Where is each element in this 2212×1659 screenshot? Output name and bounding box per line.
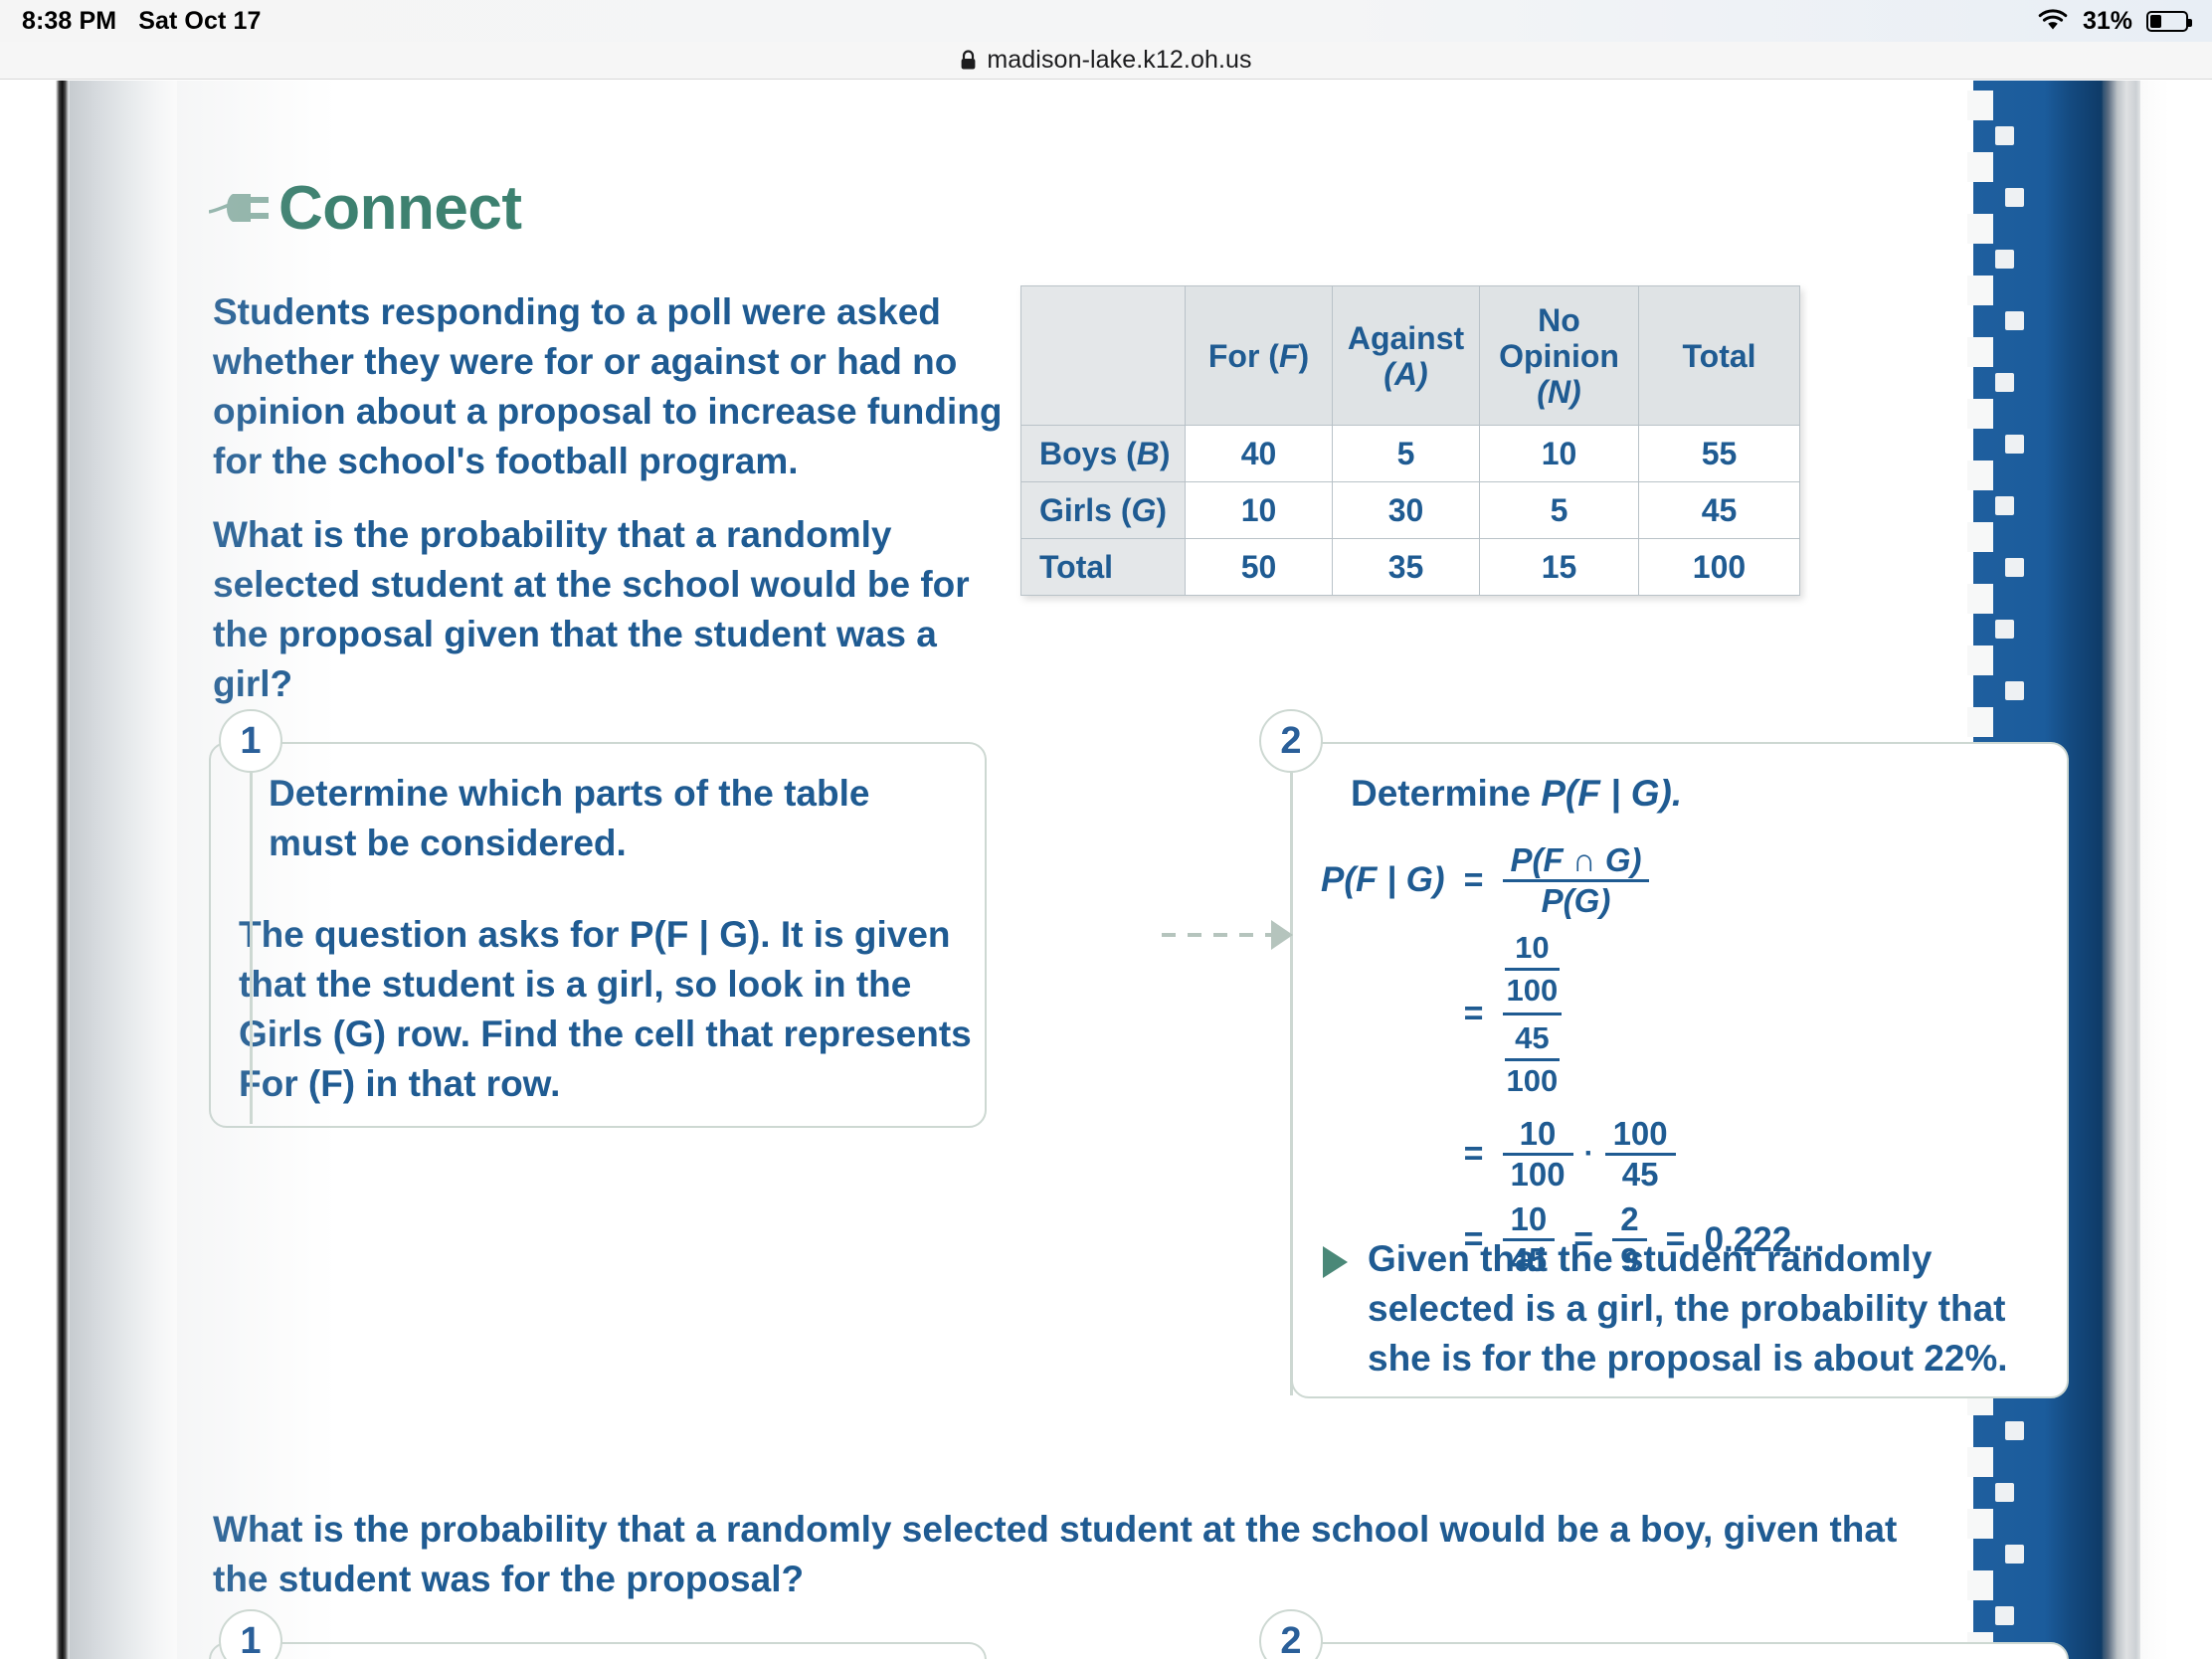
binding-notch — [1967, 707, 1993, 737]
binding-hole — [1995, 1483, 2014, 1502]
step2-heading-prefix: Determine — [1351, 773, 1541, 814]
step1-instruction: Determine which parts of the table must … — [269, 769, 965, 868]
binding-notch — [1967, 1570, 1993, 1600]
clock-time: 8:38 PM — [22, 7, 116, 36]
formula-numerator: P(F ∩ G) — [1503, 841, 1650, 879]
complex-fraction-numerator: 10 100 — [1503, 925, 1563, 1013]
result-a-num: 10 — [1503, 1200, 1556, 1238]
math-equals-2: = — [1445, 995, 1503, 1033]
binding-notch — [1967, 399, 1993, 429]
mult-b-num: 100 — [1605, 1115, 1676, 1153]
math-lhs: P(F | G) — [1321, 860, 1445, 900]
row-header: Total — [1021, 539, 1186, 596]
step-box-3 — [209, 1642, 987, 1659]
table-cell: 50 — [1186, 539, 1333, 596]
math-row-formula: P(F | G) = P(F ∩ G) P(G) — [1321, 841, 1826, 919]
binding-hole — [2005, 681, 2024, 700]
row-header: Girls (G) — [1021, 482, 1186, 539]
url-text: madison-lake.k12.oh.us — [987, 46, 1251, 75]
plug-icon — [209, 182, 271, 236]
step-stem-1 — [250, 771, 253, 1124]
math-row-multiplication: P(F | G) = 10 100 · 100 45 — [1321, 1115, 1826, 1193]
table-cell: 10 — [1186, 482, 1333, 539]
binding-notch — [1967, 461, 1993, 490]
table-cell: 40 — [1186, 426, 1333, 482]
triangle-bullet-icon — [1323, 1246, 1348, 1278]
ios-status-bar: 8:38 PM Sat Oct 17 31% — [0, 0, 2212, 42]
result-b-num: 2 — [1612, 1200, 1646, 1238]
inner-fraction-bottom: 45 100 — [1505, 1018, 1561, 1100]
book-page-edges — [2101, 81, 2142, 1659]
table-header: For (F) Against (A) No Opinion (N) Total — [1021, 286, 1800, 426]
table-row: Girls (G)1030545 — [1021, 482, 1800, 539]
binding-notch — [1967, 522, 1993, 552]
battery-fill — [2150, 15, 2161, 28]
two-way-frequency-table: For (F) Against (A) No Opinion (N) Total… — [1020, 285, 1800, 596]
math-equals-1: = — [1445, 861, 1503, 900]
step-stem-2 — [1290, 771, 1293, 1395]
binding-hole — [2005, 188, 2024, 207]
photo-outer-margin — [2140, 81, 2212, 1659]
arrow-head-icon — [1271, 920, 1293, 950]
multiplication-dot: · — [1573, 1137, 1605, 1171]
fraction-formula: P(F ∩ G) P(G) — [1503, 841, 1650, 919]
binding-notch — [1967, 337, 1993, 367]
binding-hole — [1995, 496, 2014, 515]
binding-notch — [1967, 152, 1993, 182]
inner-top-num: 10 — [1513, 928, 1551, 967]
math-row-complex-fraction: P(F | G) = 10 100 45 — [1321, 925, 1826, 1103]
binding-hole — [2005, 1421, 2024, 1440]
mult-b-den: 45 — [1614, 1156, 1667, 1194]
column-header-for: For (F) — [1186, 286, 1333, 426]
table-cell: 35 — [1333, 539, 1480, 596]
mult-a-num: 10 — [1512, 1115, 1565, 1153]
battery-icon — [2146, 11, 2188, 32]
step2-heading: Determine P(F | G). — [1351, 769, 2047, 819]
binding-notch — [1967, 1509, 1993, 1539]
binding-hole — [1995, 250, 2014, 269]
column-header-total: Total — [1639, 286, 1800, 426]
battery-percentage: 31% — [2083, 7, 2132, 36]
row-header: Boys (B) — [1021, 426, 1186, 482]
col-no-var: (N) — [1537, 374, 1580, 410]
table-corner-cell — [1021, 286, 1186, 426]
dashed-connector-line — [1162, 933, 1277, 937]
step1-explanation: The question asks for P(F | G). It is gi… — [239, 910, 975, 1109]
step-number-circle-2: 2 — [1259, 709, 1323, 773]
status-bar-right: 31% — [2037, 0, 2188, 42]
connect-section-header: Connect — [209, 178, 522, 240]
binding-hole — [2005, 311, 2024, 330]
col-for-label: For ( — [1208, 338, 1279, 374]
clock-date: Sat Oct 17 — [138, 7, 261, 36]
table-cell: 15 — [1480, 539, 1639, 596]
binding-notch — [1967, 584, 1993, 614]
binding-hole — [1995, 620, 2014, 639]
column-header-no-opinion: No Opinion (N) — [1480, 286, 1639, 426]
inner-fraction-top: 10 100 — [1505, 928, 1561, 1010]
table-cell: 5 — [1480, 482, 1639, 539]
col-for-var: F — [1279, 338, 1299, 374]
table-cell: 30 — [1333, 482, 1480, 539]
binding-hole — [1995, 373, 2014, 392]
math-equals-3: = — [1445, 1135, 1503, 1174]
col-no-line2: Opinion — [1499, 338, 1619, 374]
table-cell: 5 — [1333, 426, 1480, 482]
binding-hole — [2005, 558, 2024, 577]
binding-hole — [1995, 1606, 2014, 1625]
derivation-math-block: P(F | G) = P(F ∩ G) P(G) P(F | G) = 10 — [1321, 841, 1826, 1279]
page-title: Connect — [278, 178, 522, 240]
conclusion-text: Given that the student randomly selected… — [1368, 1234, 2039, 1383]
binding-hole — [1995, 126, 2014, 145]
page-curl-shading — [70, 81, 179, 1659]
binding-notch — [1967, 214, 1993, 244]
mult-a-den: 100 — [1503, 1156, 1573, 1194]
formula-denominator: P(G) — [1534, 882, 1619, 920]
col-against-var: (A) — [1383, 356, 1427, 392]
page-content: Connect Students responding to a poll we… — [177, 81, 1947, 1659]
binding-notch — [1967, 276, 1993, 305]
mult-fraction-b: 100 45 — [1605, 1115, 1676, 1193]
table-header-row: For (F) Against (A) No Opinion (N) Total — [1021, 286, 1800, 426]
intro-paragraph: Students responding to a poll were asked… — [213, 287, 1018, 486]
binding-hole — [2005, 435, 2024, 454]
lock-icon — [960, 50, 977, 71]
inner-bottom-num: 45 — [1513, 1018, 1551, 1057]
wifi-icon — [2037, 9, 2069, 33]
col-no-line1: No — [1538, 302, 1580, 338]
inner-top-den: 100 — [1505, 971, 1561, 1010]
table-cell: 10 — [1480, 426, 1639, 482]
col-against-label: Against — [1348, 320, 1464, 356]
table-row: Boys (B)4051055 — [1021, 426, 1800, 482]
binding-notch — [1967, 91, 1993, 120]
binding-hole — [2005, 1545, 2024, 1564]
table-cell: 55 — [1639, 426, 1800, 482]
browser-address-bar[interactable]: madison-lake.k12.oh.us — [0, 42, 2212, 80]
step-box-4 — [1291, 1642, 2069, 1659]
table-cell: 100 — [1639, 539, 1800, 596]
step-number-circle-3: 1 — [219, 1609, 282, 1659]
step-number-circle-1: 1 — [219, 709, 282, 773]
column-header-against: Against (A) — [1333, 286, 1480, 426]
binding-notch — [1967, 645, 1993, 675]
table-cell: 45 — [1639, 482, 1800, 539]
question-two: What is the probability that a randomly … — [213, 1505, 1904, 1604]
inner-bottom-den: 100 — [1505, 1061, 1561, 1100]
binding-notch — [1967, 1447, 1993, 1477]
step-number-circle-4: 2 — [1259, 1609, 1323, 1659]
table-body: Boys (B)4051055Girls (G)1030545Total5035… — [1021, 426, 1800, 596]
table-row: Total503515100 — [1021, 539, 1800, 596]
complex-fraction-denominator: 45 100 — [1503, 1015, 1563, 1103]
question-one: What is the probability that a randomly … — [213, 510, 1009, 709]
complex-fraction: 10 100 45 100 — [1503, 925, 1563, 1103]
step2-heading-expression: P(F | G). — [1541, 773, 1682, 814]
step2-conclusion: Given that the student randomly selected… — [1323, 1234, 2039, 1383]
textbook-page-photo: Connect Students responding to a poll we… — [0, 81, 2212, 1659]
status-bar-left: 8:38 PM Sat Oct 17 — [22, 7, 261, 36]
mult-fraction-a: 10 100 — [1503, 1115, 1573, 1193]
